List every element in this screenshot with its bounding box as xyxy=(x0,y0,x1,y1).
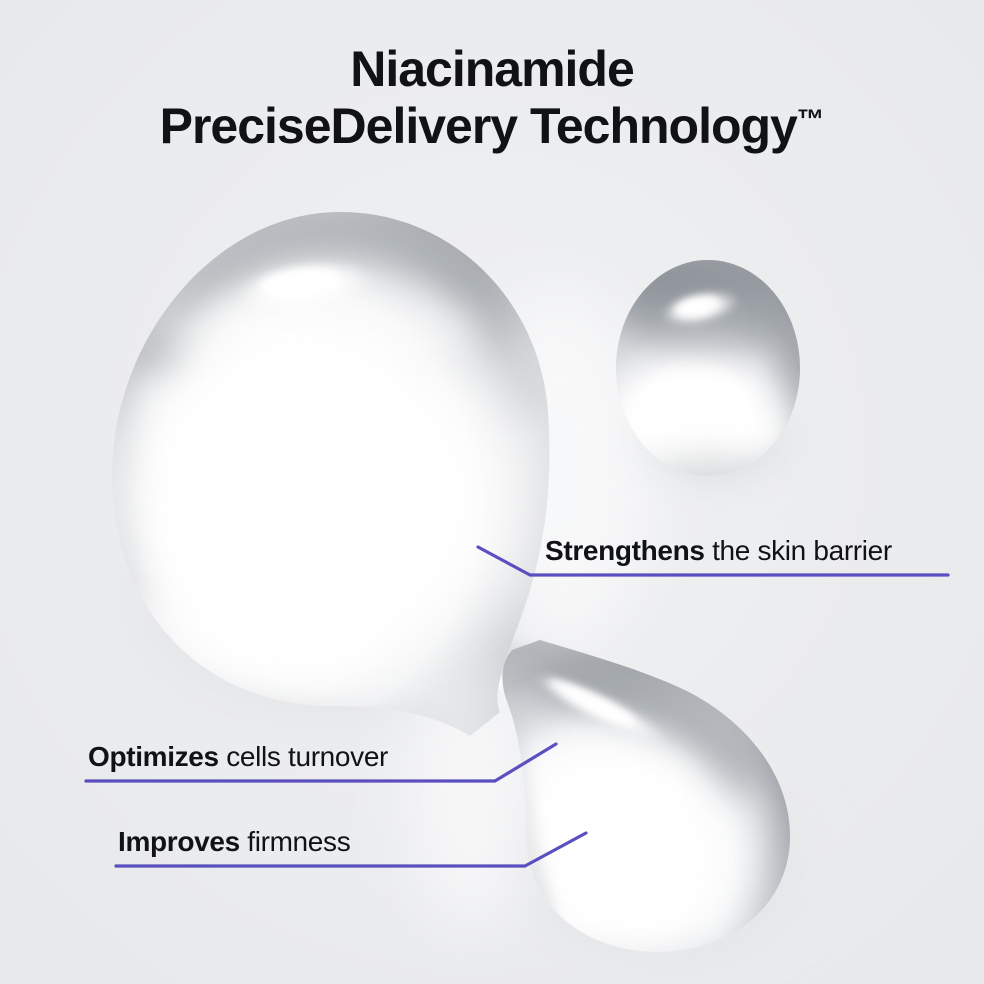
annotation-improves-rest: firmness xyxy=(240,826,351,857)
annotation-improves: Improves firmness xyxy=(0,0,984,984)
benefit-annotations: Strengthens the skin barrier Optimizes c… xyxy=(0,0,984,984)
annotation-improves-bold: Improves xyxy=(118,826,240,857)
product-graphic-canvas: Niacinamide PreciseDelivery Technology™ … xyxy=(0,0,984,984)
annotation-improves-label: Improves firmness xyxy=(118,828,350,856)
